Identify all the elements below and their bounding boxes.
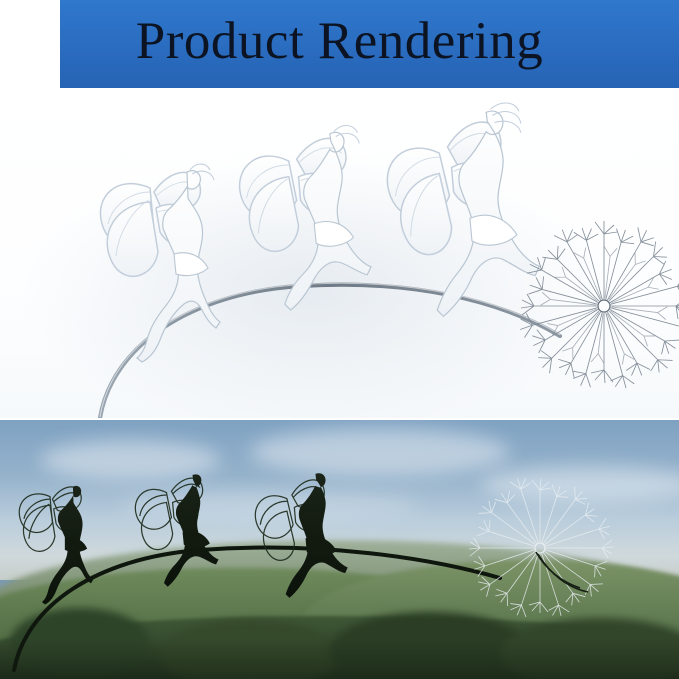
fairy-silhouette-outdoor-3 (255, 473, 347, 598)
fairy-silhouette-3 (387, 103, 539, 316)
fairy-silhouette-outdoor-1 (19, 486, 93, 605)
fairy-silhouette-outdoor-2 (135, 474, 218, 586)
page-title: Product Rendering (0, 0, 679, 88)
dandelion-seed-head (517, 221, 679, 391)
fairy-silhouette-1 (100, 164, 220, 362)
foreground-shadow (0, 639, 679, 679)
studio-render-panel (0, 88, 679, 418)
outdoor-photo-panel (0, 420, 679, 679)
product-rendering-image: Product Rendering (0, 0, 679, 679)
fairy-silhouette-2 (240, 126, 371, 311)
dandelion-seed-head-silhouette (469, 475, 613, 619)
studio-artwork (0, 88, 679, 418)
